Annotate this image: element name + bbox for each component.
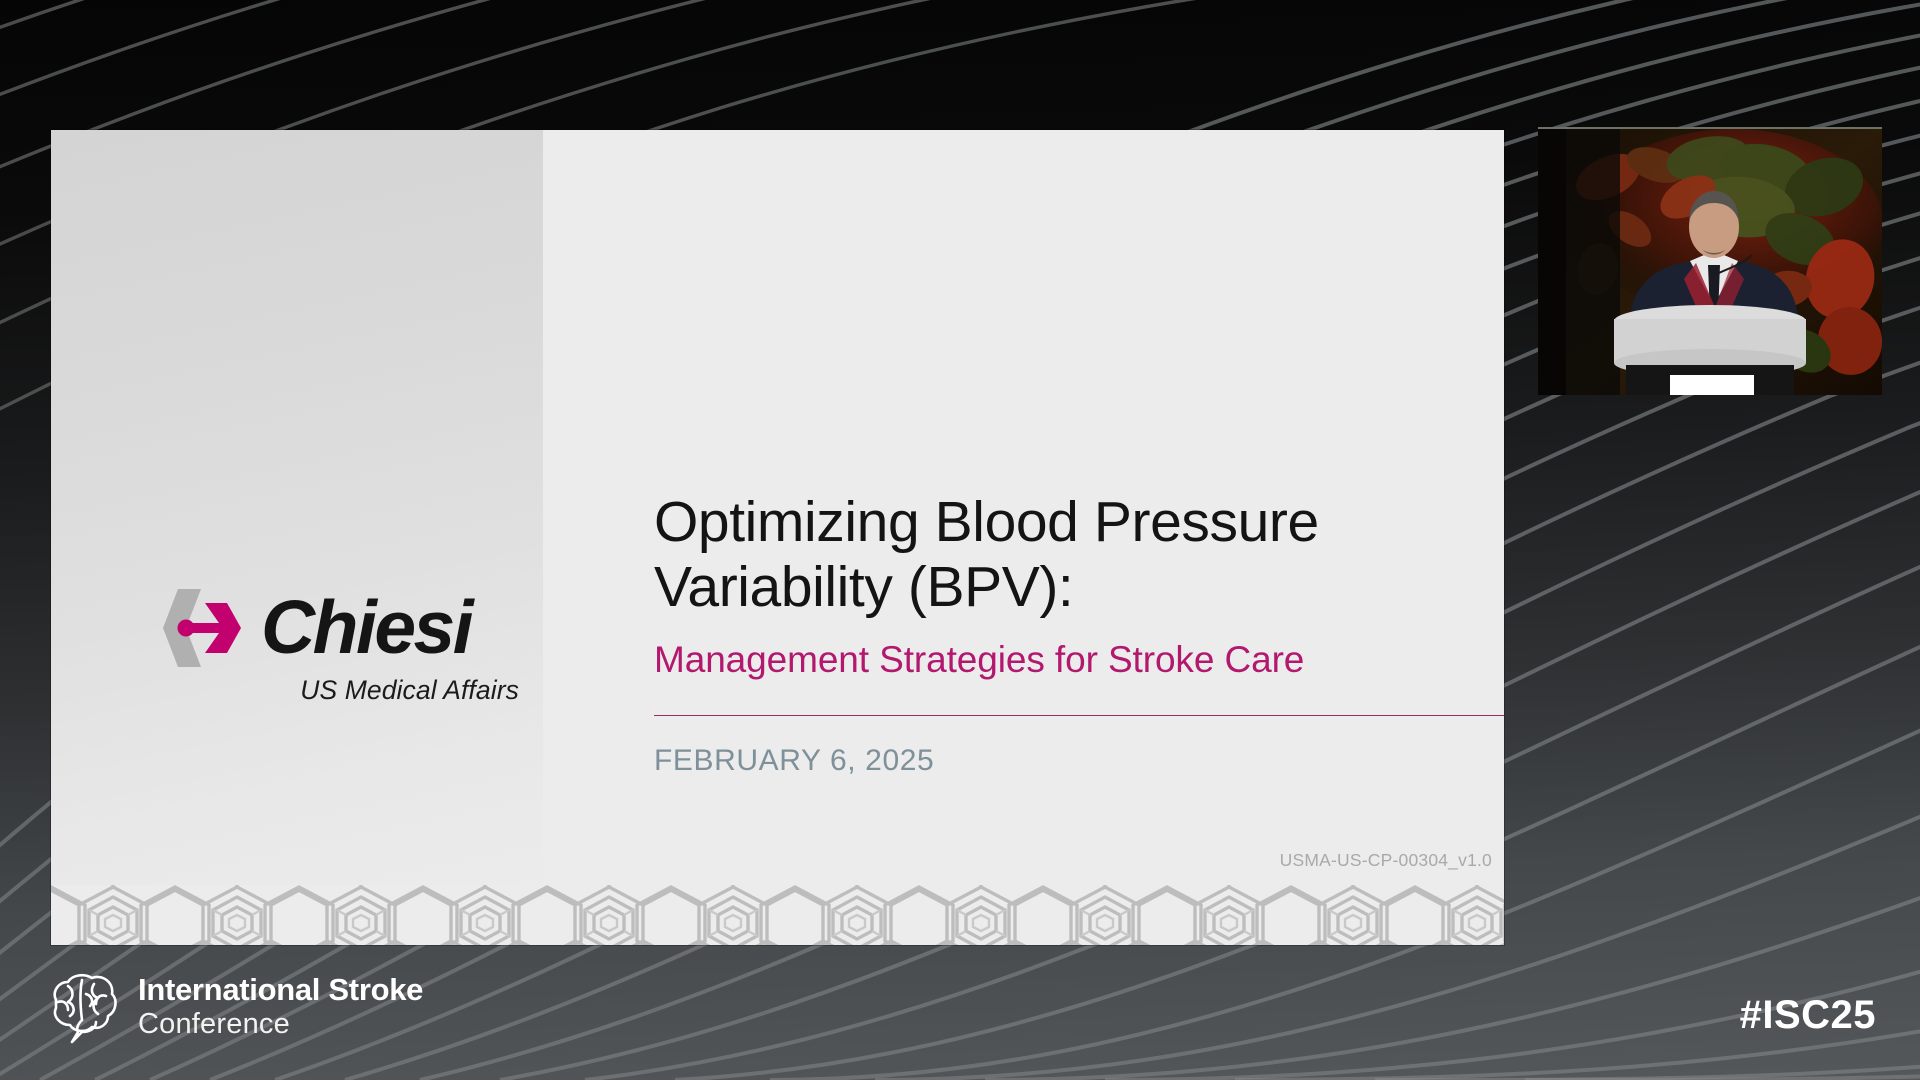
title-divider-rule bbox=[654, 715, 1504, 716]
speaker-video-frame bbox=[1538, 129, 1882, 395]
brain-icon bbox=[44, 970, 120, 1044]
speaker-video-thumbnail[interactable] bbox=[1538, 127, 1882, 395]
conference-name-line-1: International Stroke bbox=[138, 974, 423, 1007]
document-code: USMA-US-CP-00304_v1.0 bbox=[1280, 850, 1492, 871]
chiesi-logo: Chiesi US Medical Affairs bbox=[161, 585, 521, 706]
slide-pattern-band bbox=[51, 885, 1504, 945]
conference-name-line-2: Conference bbox=[138, 1009, 423, 1040]
chiesi-wordmark: Chiesi bbox=[261, 592, 471, 663]
slide-subtitle: Management Strategies for Stroke Care bbox=[654, 639, 1504, 681]
slide-title-block: Optimizing Blood Pressure Variability (B… bbox=[654, 490, 1504, 778]
chiesi-tagline: US Medical Affairs bbox=[161, 675, 521, 706]
presentation-slide[interactable]: Chiesi US Medical Affairs Optimizing Blo… bbox=[51, 130, 1504, 945]
hexagon-pattern-icon bbox=[51, 885, 1504, 945]
presentation-stage: Chiesi US Medical Affairs Optimizing Blo… bbox=[0, 0, 1920, 1080]
chiesi-logo-mark-icon bbox=[161, 585, 257, 671]
event-hashtag: #ISC25 bbox=[1740, 993, 1876, 1038]
slide-left-panel bbox=[51, 130, 543, 945]
slide-title-line-2: Variability (BPV): bbox=[654, 555, 1504, 620]
slide-title-line-1: Optimizing Blood Pressure bbox=[654, 490, 1504, 555]
slide-date: FEBRUARY 6, 2025 bbox=[654, 744, 1504, 778]
isc-conference-logo: International Stroke Conference bbox=[44, 970, 423, 1044]
